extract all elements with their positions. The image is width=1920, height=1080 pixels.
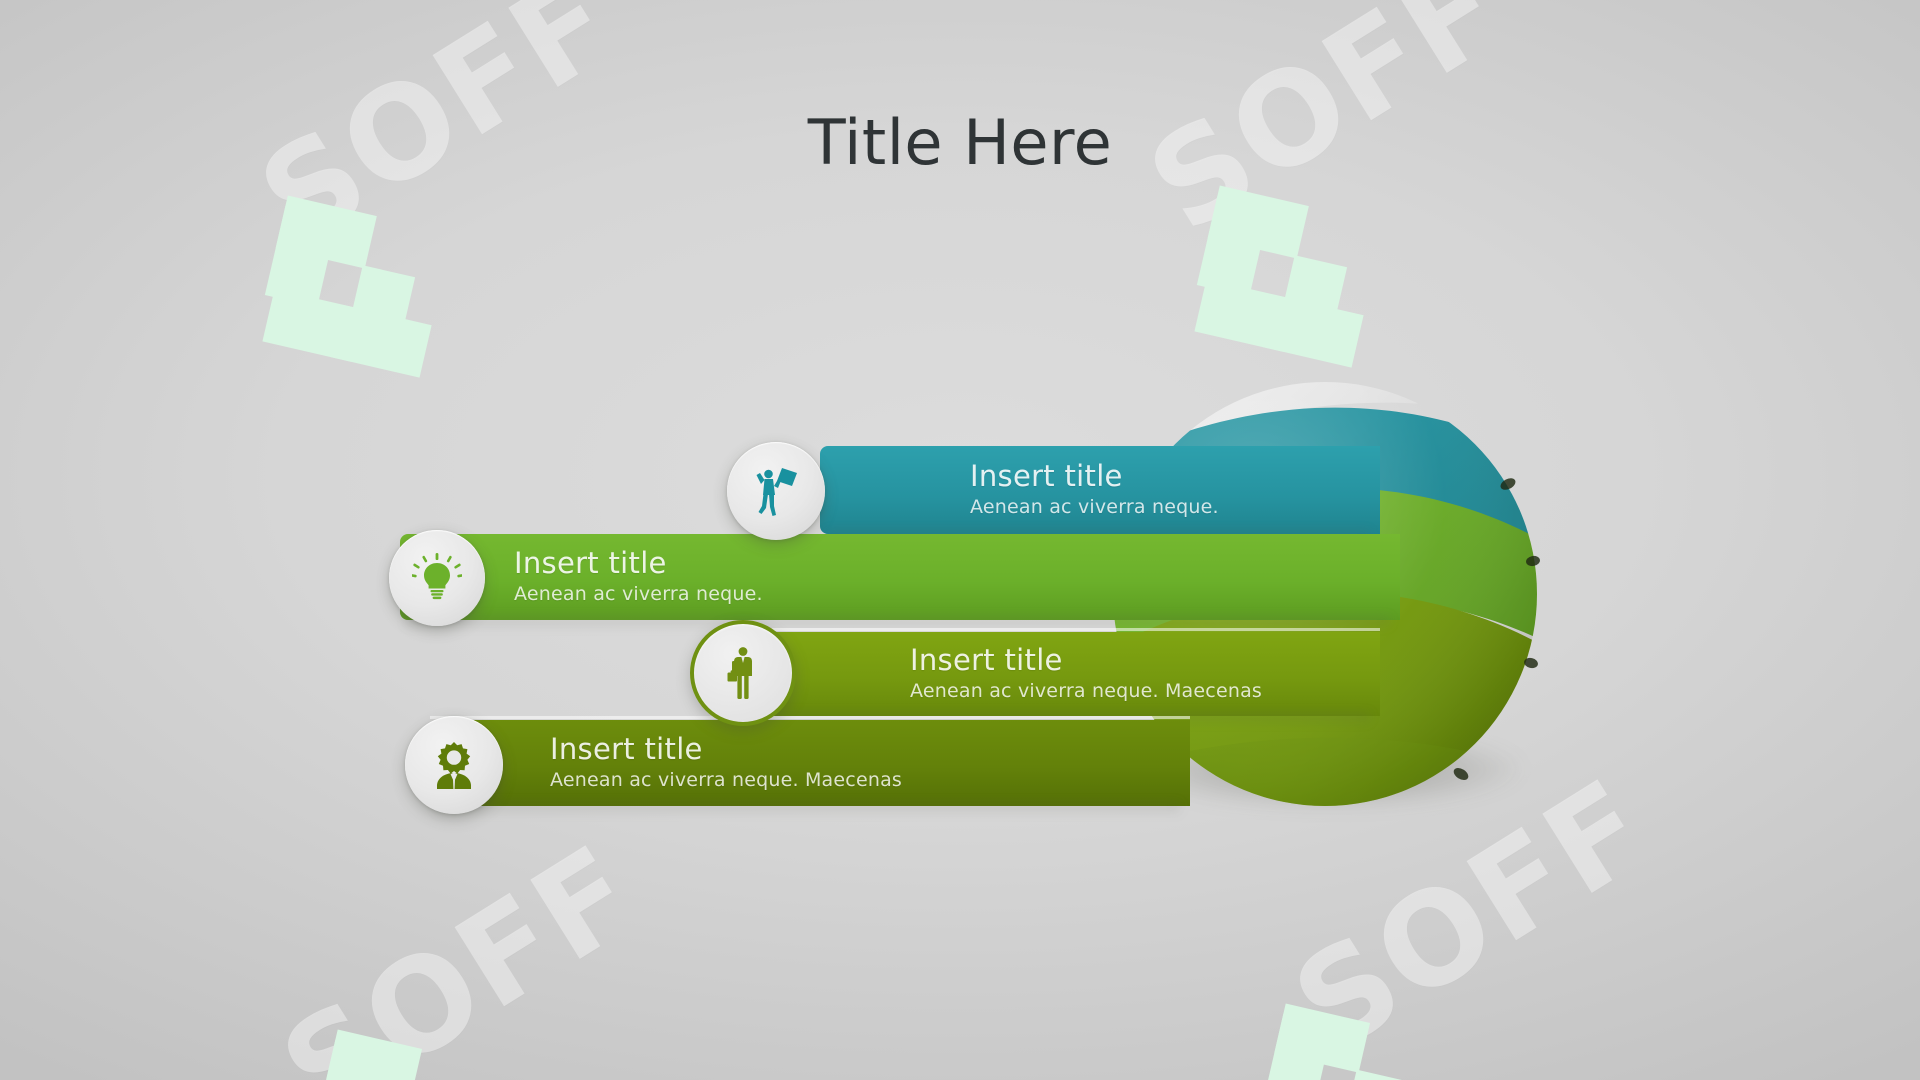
- row-4-separator: [430, 716, 1190, 719]
- lightbulb-idea-icon: [412, 553, 462, 603]
- row-4-bar[interactable]: Insert title Aenean ac viverra neque. Ma…: [430, 720, 1190, 806]
- row-2-bar[interactable]: Insert title Aenean ac viverra neque.: [400, 534, 1400, 620]
- businessman-carrying-box-icon: [751, 464, 801, 518]
- row-1-subtitle: Aenean ac viverra neque.: [970, 497, 1380, 519]
- row-2-icon-badge[interactable]: [389, 530, 485, 626]
- row-1-bar[interactable]: Insert title Aenean ac viverra neque.: [820, 446, 1380, 534]
- row-3-bar[interactable]: Insert title Aenean ac viverra neque. Ma…: [760, 632, 1380, 716]
- slide-canvas: SOFF SOFF: [0, 0, 1920, 1080]
- row-2-subtitle: Aenean ac viverra neque.: [514, 584, 1400, 606]
- row-3-icon-badge[interactable]: [690, 620, 796, 726]
- row-3-title: Insert title: [910, 645, 1380, 675]
- row-1-icon-badge[interactable]: [727, 442, 825, 540]
- row-4-subtitle: Aenean ac viverra neque. Maecenas: [550, 770, 1190, 792]
- businessman-with-briefcase-icon: [723, 645, 763, 701]
- page-title: Title Here: [0, 106, 1920, 179]
- row-3-subtitle: Aenean ac viverra neque. Maecenas: [910, 681, 1380, 703]
- row-3-separator: [760, 628, 1380, 631]
- row-4-title: Insert title: [550, 734, 1190, 764]
- user-gear-settings-icon: [429, 740, 479, 790]
- row-2-title: Insert title: [514, 548, 1400, 578]
- row-4-icon-badge[interactable]: [405, 716, 503, 814]
- row-1-title: Insert title: [970, 461, 1380, 491]
